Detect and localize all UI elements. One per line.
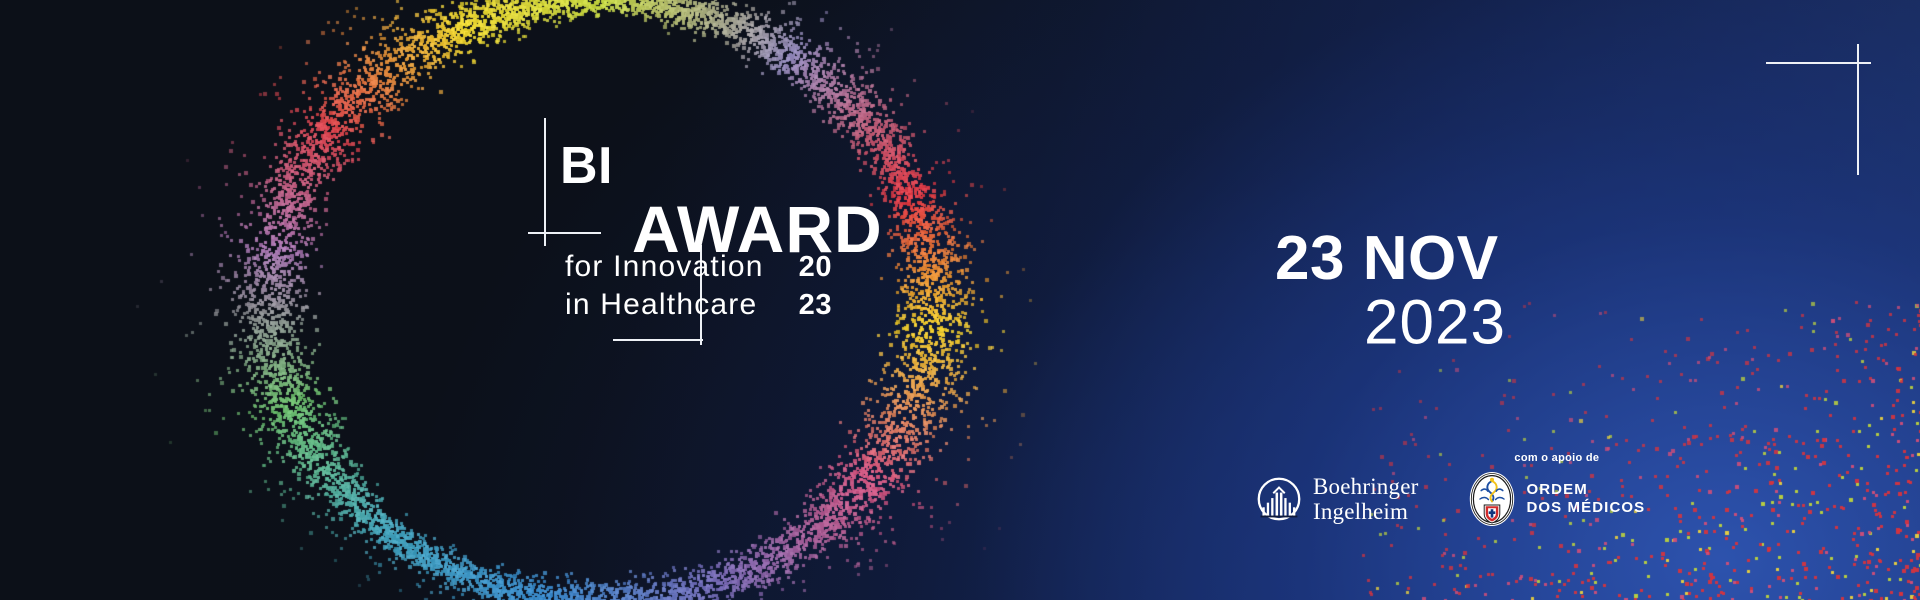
bi-wordmark-line-1: Boehringer xyxy=(1313,474,1418,499)
ordem-dos-medicos-crest-icon xyxy=(1468,470,1516,528)
ordem-dos-medicos-logo[interactable]: ORDEM DOS MÉDICOS xyxy=(1468,470,1645,528)
title-line-bi: BI xyxy=(560,140,883,192)
bi-temple-circle-icon xyxy=(1256,476,1302,522)
event-banner: BI AWARD for Innovation in Healthcare 20… xyxy=(0,0,1920,600)
award-slogan: for Innovation in Healthcare xyxy=(565,248,764,324)
title-rule-vertical-left xyxy=(544,118,546,246)
om-line-2: DOS MÉDICOS xyxy=(1526,499,1645,517)
event-date-block: 23 NOV 2023 xyxy=(1275,228,1595,356)
event-date-year: 2023 xyxy=(1275,289,1595,356)
om-line-1: ORDEM xyxy=(1526,481,1645,499)
bi-wordmark-line-2: Ingelheim xyxy=(1313,499,1418,524)
boehringer-ingelheim-wordmark: Boehringer Ingelheim xyxy=(1313,474,1418,524)
year-top: 20 xyxy=(799,248,832,286)
support-label: com o apoio de xyxy=(1514,452,1599,464)
slogan-line-2: in Healthcare xyxy=(565,286,764,324)
year-bottom: 23 xyxy=(799,286,832,324)
ordem-dos-medicos-wordmark: ORDEM DOS MÉDICOS xyxy=(1526,481,1645,517)
title-rule-horizontal-bottom xyxy=(613,339,703,341)
crop-mark-horizontal-icon xyxy=(1766,62,1871,64)
logo-row: Boehringer Ingelheim com o apoio de xyxy=(1256,452,1645,528)
ordem-dos-medicos-group: com o apoio de xyxy=(1468,452,1645,528)
award-year-column: 20 23 xyxy=(799,248,832,324)
boehringer-ingelheim-logo[interactable]: Boehringer Ingelheim xyxy=(1256,474,1418,524)
award-slogan-row: for Innovation in Healthcare 20 23 xyxy=(565,248,832,324)
slogan-line-1: for Innovation xyxy=(565,248,764,286)
event-date-day-month: 23 NOV xyxy=(1275,228,1595,290)
crop-mark-vertical-icon xyxy=(1857,44,1859,175)
award-title-block: BI AWARD xyxy=(560,140,883,262)
